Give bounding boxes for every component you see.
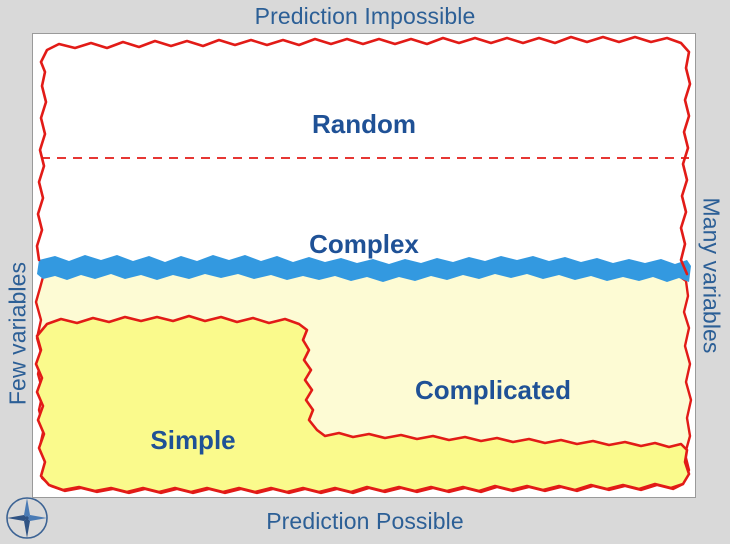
region-label-complex: Complex — [33, 229, 695, 260]
left-axis-label: Few variables — [5, 234, 32, 434]
compass-rose-icon — [4, 495, 50, 541]
region-label-simple: Simple — [93, 425, 293, 456]
region-label-random: Random — [33, 109, 695, 140]
right-axis-label: Many variables — [698, 176, 725, 376]
top-axis-label: Prediction Impossible — [0, 3, 730, 30]
diagram-canvas: Prediction Impossible Few variables Many… — [0, 0, 730, 544]
region-label-complicated: Complicated — [353, 375, 633, 406]
bottom-axis-label: Prediction Possible — [0, 508, 730, 535]
diagram-panel: Random Complex Complicated Simple — [32, 33, 696, 498]
